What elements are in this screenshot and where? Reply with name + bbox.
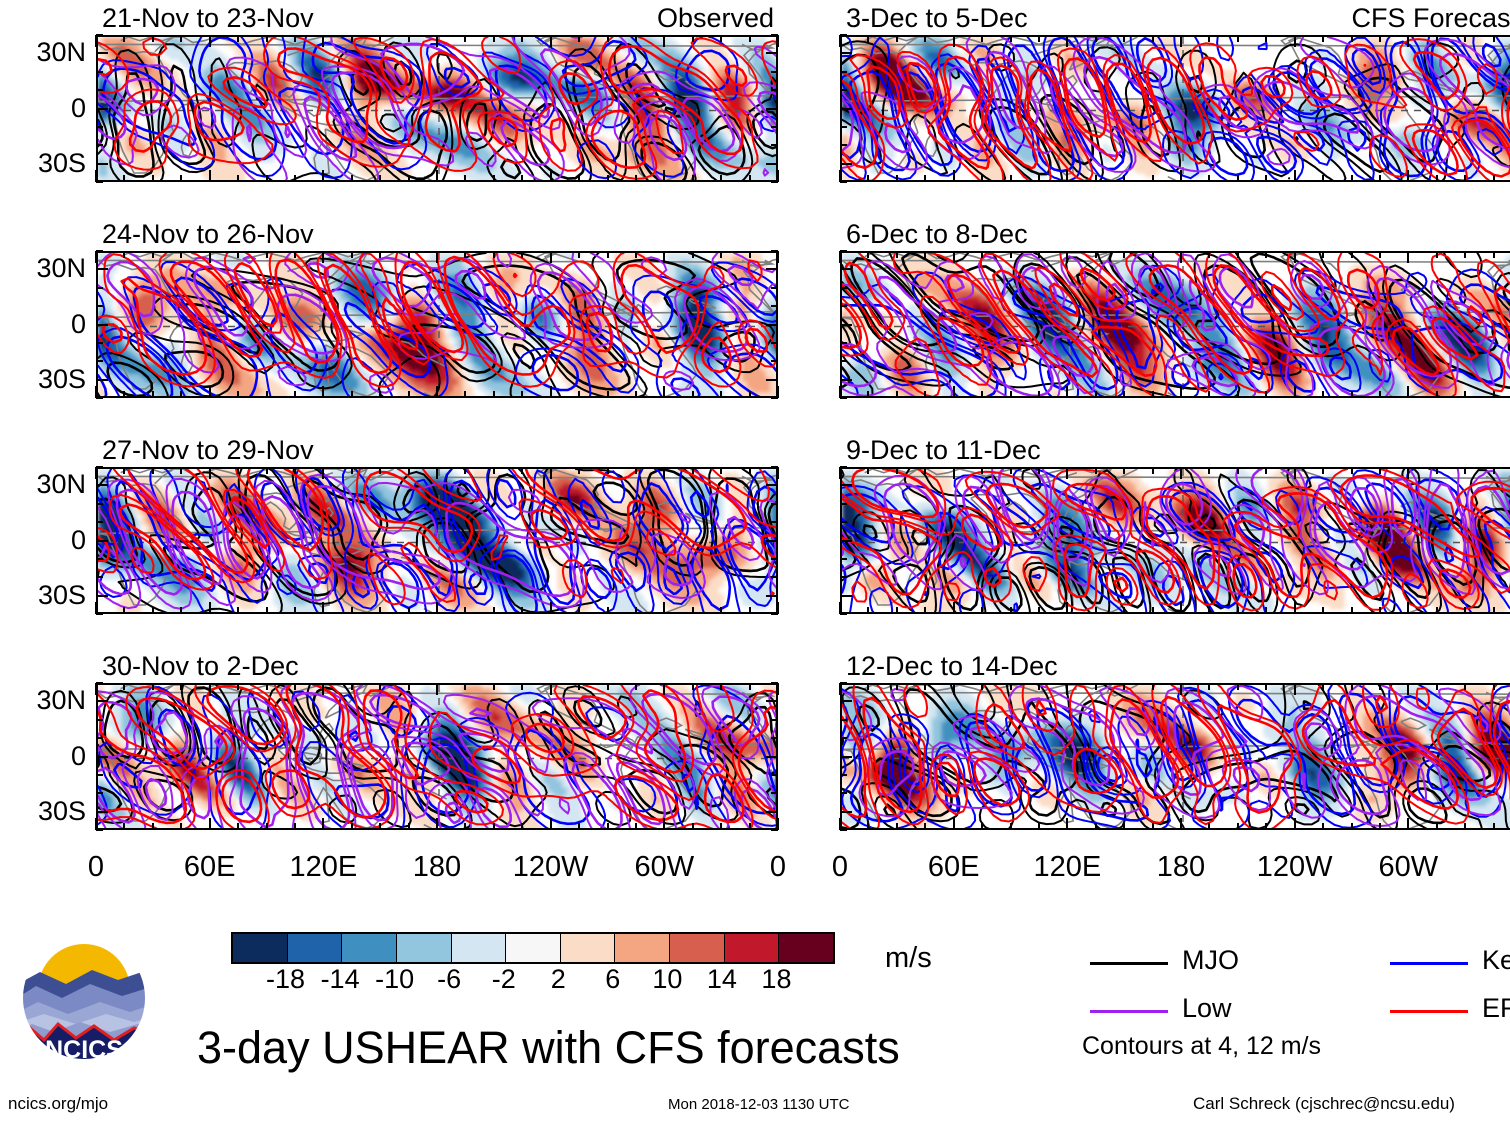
x-tick-minor bbox=[1322, 607, 1324, 614]
x-tick-minor-top bbox=[1123, 251, 1125, 258]
x-tick-minor-top bbox=[1237, 467, 1239, 474]
x-tick-minor-top bbox=[607, 467, 609, 474]
x-tick-minor-top bbox=[924, 35, 926, 42]
y-tick-minor bbox=[96, 558, 103, 560]
y-tick-minor bbox=[840, 792, 847, 794]
footer-site-link[interactable]: ncics.org/mjo bbox=[8, 1095, 108, 1112]
x-tick-minor bbox=[1351, 607, 1353, 614]
x-tick-minor bbox=[663, 602, 665, 614]
x-tick-minor-top bbox=[180, 251, 182, 258]
x-tick-minor bbox=[1322, 391, 1324, 398]
x-tick-minor-top bbox=[1010, 251, 1012, 258]
x-tick-minor-top bbox=[777, 251, 779, 263]
panel-title-5: 3-Dec to 5-Dec bbox=[846, 5, 1028, 32]
x-tick-minor-top bbox=[152, 251, 154, 258]
x-tick-minor-top bbox=[692, 35, 694, 42]
x-tick-label-3: 180 bbox=[1121, 853, 1241, 882]
y-tick-minor bbox=[840, 268, 852, 270]
y-tick-minor bbox=[96, 287, 103, 289]
y-tick-minor bbox=[840, 324, 852, 326]
x-tick-minor bbox=[493, 607, 495, 614]
x-tick-minor-top bbox=[607, 251, 609, 258]
x-tick-minor-top bbox=[1351, 35, 1353, 42]
x-tick-minor-top bbox=[839, 467, 841, 479]
x-tick-minor bbox=[550, 386, 552, 398]
y-tick-minor bbox=[96, 719, 103, 721]
x-tick-minor bbox=[1407, 602, 1409, 614]
x-tick-minor bbox=[1379, 391, 1381, 398]
colorbar-swatch-5 bbox=[505, 934, 560, 962]
x-tick-minor bbox=[408, 823, 410, 830]
x-tick-label-5: 60W bbox=[604, 853, 724, 882]
x-tick-minor bbox=[720, 391, 722, 398]
y-tick-minor bbox=[840, 397, 847, 399]
x-tick-minor bbox=[550, 170, 552, 182]
x-tick-minor-top bbox=[95, 467, 97, 479]
y-tick-minor bbox=[96, 613, 103, 615]
x-tick-minor bbox=[180, 391, 182, 398]
x-tick-minor-top bbox=[1436, 35, 1438, 42]
y-tick-minor bbox=[96, 700, 108, 702]
y-tick-minor bbox=[96, 774, 103, 776]
x-tick-minor bbox=[521, 391, 523, 398]
x-tick-minor-top bbox=[578, 683, 580, 690]
legend-line-low bbox=[1090, 1010, 1168, 1013]
y-tick-label-30s: 30S bbox=[0, 366, 86, 393]
x-tick-minor-top bbox=[1123, 683, 1125, 690]
x-tick-minor-top bbox=[839, 251, 841, 263]
x-tick-minor-top bbox=[1407, 467, 1409, 479]
x-tick-minor-top bbox=[1208, 467, 1210, 474]
y-tick-minor-right bbox=[771, 34, 778, 36]
panel-title-7: 9-Dec to 11-Dec bbox=[846, 437, 1041, 464]
x-tick-minor bbox=[635, 391, 637, 398]
x-tick-minor bbox=[1322, 823, 1324, 830]
y-tick-minor-right bbox=[771, 829, 778, 831]
x-tick-minor-top bbox=[692, 683, 694, 690]
footer-timestamp: Mon 2018-12-03 1130 UTC bbox=[668, 1096, 850, 1113]
map-panel-6[interactable] bbox=[840, 251, 1510, 398]
colorbar-swatch-10 bbox=[778, 934, 833, 962]
y-tick-minor-right bbox=[766, 595, 778, 597]
x-tick-minor bbox=[123, 175, 125, 182]
x-tick-minor bbox=[1038, 607, 1040, 614]
y-tick-minor-right bbox=[771, 613, 778, 615]
legend-label-er: ER bbox=[1482, 995, 1510, 1022]
x-tick-minor bbox=[493, 391, 495, 398]
x-tick-minor-top bbox=[1322, 251, 1324, 258]
x-tick-minor-top bbox=[981, 251, 983, 258]
x-tick-minor bbox=[981, 391, 983, 398]
x-tick-minor bbox=[1294, 602, 1296, 614]
x-tick-minor-top bbox=[1095, 251, 1097, 258]
y-tick-minor-right bbox=[771, 342, 778, 344]
x-tick-minor-top bbox=[1038, 467, 1040, 474]
panel-title-6: 6-Dec to 8-Dec bbox=[846, 221, 1028, 248]
x-tick-minor bbox=[1294, 818, 1296, 830]
x-tick-minor-top bbox=[1066, 251, 1068, 263]
x-tick-minor bbox=[896, 823, 898, 830]
y-tick-minor bbox=[96, 342, 103, 344]
x-tick-minor-top bbox=[749, 467, 751, 474]
y-tick-minor bbox=[840, 774, 847, 776]
y-tick-minor-right bbox=[771, 719, 778, 721]
y-tick-minor-right bbox=[771, 558, 778, 560]
y-tick-minor bbox=[840, 595, 852, 597]
map-panel-7[interactable] bbox=[840, 467, 1510, 614]
y-tick-label-30s: 30S bbox=[0, 582, 86, 609]
x-tick-minor-top bbox=[436, 251, 438, 263]
y-tick-minor bbox=[96, 540, 108, 542]
x-tick-minor-top bbox=[1180, 683, 1182, 695]
x-tick-label-2: 120E bbox=[1007, 853, 1127, 882]
legend-label-kelvin-x2: Kelvin x2 bbox=[1482, 947, 1510, 974]
y-tick-minor bbox=[96, 829, 103, 831]
x-tick-minor bbox=[294, 175, 296, 182]
y-tick-minor bbox=[840, 811, 852, 813]
x-tick-minor-top bbox=[95, 683, 97, 695]
x-tick-minor bbox=[294, 823, 296, 830]
x-tick-minor-top bbox=[867, 683, 869, 690]
x-tick-minor bbox=[1180, 818, 1182, 830]
y-tick-minor-right bbox=[766, 700, 778, 702]
x-tick-minor-top bbox=[379, 35, 381, 42]
x-tick-minor-top bbox=[266, 35, 268, 42]
x-tick-minor bbox=[436, 818, 438, 830]
x-tick-minor bbox=[209, 602, 211, 614]
y-tick-minor bbox=[96, 682, 103, 684]
x-tick-minor bbox=[1351, 175, 1353, 182]
y-tick-minor bbox=[840, 719, 847, 721]
y-tick-minor bbox=[96, 521, 103, 523]
x-tick-minor bbox=[464, 391, 466, 398]
x-tick-minor-top bbox=[924, 467, 926, 474]
x-tick-minor-top bbox=[1010, 683, 1012, 690]
x-tick-minor-top bbox=[1436, 683, 1438, 690]
colorbar-tick-9: 18 bbox=[736, 966, 816, 993]
x-tick-minor bbox=[123, 391, 125, 398]
colorbar-swatch-9 bbox=[724, 934, 779, 962]
x-tick-minor-top bbox=[981, 683, 983, 690]
x-tick-minor bbox=[692, 391, 694, 398]
x-tick-minor-top bbox=[493, 683, 495, 690]
y-tick-minor bbox=[96, 126, 103, 128]
x-tick-minor bbox=[180, 175, 182, 182]
x-tick-minor bbox=[1493, 175, 1495, 182]
x-tick-minor bbox=[749, 175, 751, 182]
x-tick-minor-top bbox=[1237, 35, 1239, 42]
x-tick-label-2: 120E bbox=[263, 853, 383, 882]
x-tick-minor bbox=[896, 175, 898, 182]
colorbar-swatch-2 bbox=[341, 934, 396, 962]
x-tick-minor bbox=[351, 391, 353, 398]
x-tick-minor bbox=[663, 170, 665, 182]
x-tick-minor-top bbox=[351, 683, 353, 690]
x-tick-minor-top bbox=[294, 35, 296, 42]
colorbar-swatch-8 bbox=[669, 934, 724, 962]
x-tick-minor bbox=[237, 175, 239, 182]
x-tick-minor-top bbox=[953, 467, 955, 479]
x-tick-minor bbox=[692, 823, 694, 830]
x-tick-minor bbox=[953, 170, 955, 182]
y-tick-minor bbox=[840, 613, 847, 615]
y-tick-minor bbox=[840, 379, 852, 381]
y-tick-minor bbox=[96, 576, 103, 578]
x-tick-minor bbox=[379, 823, 381, 830]
x-tick-minor bbox=[152, 607, 154, 614]
x-tick-minor-top bbox=[720, 467, 722, 474]
x-tick-minor-top bbox=[1208, 35, 1210, 42]
x-tick-minor-top bbox=[1066, 35, 1068, 47]
legend-line-mjo bbox=[1090, 962, 1168, 965]
y-tick-minor bbox=[840, 163, 852, 165]
y-tick-minor bbox=[96, 144, 103, 146]
x-tick-minor-top bbox=[436, 683, 438, 695]
x-tick-minor-top bbox=[1237, 683, 1239, 690]
x-tick-minor-top bbox=[1265, 683, 1267, 690]
x-tick-minor bbox=[924, 391, 926, 398]
x-tick-minor-top bbox=[1407, 683, 1409, 695]
x-tick-minor-top bbox=[1208, 251, 1210, 258]
x-tick-minor-top bbox=[294, 467, 296, 474]
x-tick-minor bbox=[379, 175, 381, 182]
colorbar-swatch-7 bbox=[614, 934, 669, 962]
map-panel-8[interactable] bbox=[840, 683, 1510, 830]
x-tick-minor-top bbox=[180, 683, 182, 690]
legend-line-er bbox=[1390, 1010, 1468, 1013]
x-tick-minor-top bbox=[663, 467, 665, 479]
y-tick-minor bbox=[840, 89, 847, 91]
x-tick-minor bbox=[351, 823, 353, 830]
x-tick-minor bbox=[1237, 391, 1239, 398]
x-tick-minor bbox=[607, 607, 609, 614]
x-tick-minor bbox=[896, 607, 898, 614]
x-tick-minor bbox=[1322, 175, 1324, 182]
x-tick-minor-top bbox=[635, 467, 637, 474]
x-tick-minor-top bbox=[981, 467, 983, 474]
y-tick-minor-right bbox=[766, 484, 778, 486]
x-tick-minor bbox=[635, 607, 637, 614]
x-tick-minor-top bbox=[839, 683, 841, 695]
x-tick-minor-top bbox=[663, 683, 665, 695]
y-tick-minor bbox=[840, 829, 847, 831]
x-tick-minor bbox=[436, 170, 438, 182]
x-tick-minor bbox=[1436, 391, 1438, 398]
x-tick-minor bbox=[578, 823, 580, 830]
y-tick-minor bbox=[96, 756, 108, 758]
x-tick-minor-top bbox=[550, 251, 552, 263]
x-tick-minor-top bbox=[1351, 251, 1353, 258]
x-tick-minor-top bbox=[1095, 35, 1097, 42]
x-tick-minor-top bbox=[607, 683, 609, 690]
x-tick-minor-top bbox=[1436, 467, 1438, 474]
x-tick-minor bbox=[981, 175, 983, 182]
x-tick-minor bbox=[1265, 823, 1267, 830]
x-tick-minor-top bbox=[1237, 251, 1239, 258]
x-tick-minor bbox=[1379, 823, 1381, 830]
x-tick-minor-top bbox=[408, 35, 410, 42]
x-tick-minor-top bbox=[1294, 467, 1296, 479]
x-tick-minor-top bbox=[867, 467, 869, 474]
y-tick-minor bbox=[96, 71, 103, 73]
y-tick-minor bbox=[840, 126, 847, 128]
x-tick-minor bbox=[550, 818, 552, 830]
x-tick-minor-top bbox=[464, 683, 466, 690]
x-tick-minor-top bbox=[777, 35, 779, 47]
colorbar-swatch-4 bbox=[451, 934, 506, 962]
x-tick-label-4: 120W bbox=[1235, 853, 1355, 882]
x-tick-minor bbox=[1066, 386, 1068, 398]
column-header-right: CFS Forecast bbox=[1351, 5, 1510, 32]
x-tick-minor-top bbox=[408, 467, 410, 474]
x-tick-minor-top bbox=[777, 467, 779, 479]
x-tick-minor-top bbox=[550, 683, 552, 695]
y-tick-minor-right bbox=[766, 163, 778, 165]
legend-label-mjo: MJO bbox=[1182, 947, 1239, 974]
x-tick-minor-top bbox=[322, 467, 324, 479]
x-tick-minor-top bbox=[1180, 467, 1182, 479]
x-tick-minor bbox=[351, 607, 353, 614]
y-tick-minor bbox=[840, 360, 847, 362]
x-tick-minor-top bbox=[550, 467, 552, 479]
x-tick-minor bbox=[1237, 607, 1239, 614]
x-tick-minor bbox=[1123, 391, 1125, 398]
x-tick-minor bbox=[1294, 386, 1296, 398]
x-tick-minor-top bbox=[1379, 683, 1381, 690]
y-tick-minor bbox=[840, 144, 847, 146]
x-tick-minor-top bbox=[379, 683, 381, 690]
x-tick-minor-top bbox=[152, 467, 154, 474]
x-tick-minor-top bbox=[1464, 35, 1466, 42]
x-tick-minor-top bbox=[1379, 251, 1381, 258]
colorbar bbox=[231, 932, 835, 964]
y-tick-minor bbox=[840, 34, 847, 36]
x-tick-minor-top bbox=[749, 251, 751, 258]
y-tick-minor bbox=[96, 792, 103, 794]
x-tick-minor-top bbox=[152, 683, 154, 690]
x-tick-minor bbox=[981, 823, 983, 830]
x-tick-minor-top bbox=[867, 35, 869, 42]
x-tick-minor-top bbox=[123, 251, 125, 258]
y-tick-label-30n: 30N bbox=[0, 471, 86, 498]
x-tick-minor bbox=[493, 823, 495, 830]
y-tick-minor bbox=[96, 379, 108, 381]
y-tick-minor-right bbox=[771, 503, 778, 505]
x-tick-minor bbox=[1038, 391, 1040, 398]
x-tick-minor-top bbox=[1464, 467, 1466, 474]
contour-note: Contours at 4, 12 m/s bbox=[1082, 1034, 1321, 1059]
x-tick-minor-top bbox=[663, 251, 665, 263]
map-panel-2[interactable] bbox=[96, 251, 778, 398]
y-tick-minor bbox=[840, 540, 852, 542]
y-tick-minor bbox=[96, 466, 103, 468]
x-tick-minor bbox=[1436, 607, 1438, 614]
x-tick-minor-top bbox=[493, 35, 495, 42]
y-tick-minor bbox=[96, 250, 103, 252]
x-tick-minor bbox=[266, 391, 268, 398]
panel-title-4: 30-Nov to 2-Dec bbox=[102, 653, 299, 680]
panel-title-2: 24-Nov to 26-Nov bbox=[102, 221, 314, 248]
x-tick-minor bbox=[1095, 823, 1097, 830]
map-panel-3[interactable] bbox=[96, 467, 778, 614]
x-tick-minor bbox=[266, 175, 268, 182]
x-tick-minor bbox=[720, 823, 722, 830]
x-tick-minor-top bbox=[839, 35, 841, 47]
y-tick-minor bbox=[840, 71, 847, 73]
x-tick-minor bbox=[180, 823, 182, 830]
x-tick-minor bbox=[1493, 391, 1495, 398]
x-tick-minor-top bbox=[493, 251, 495, 258]
x-tick-minor-top bbox=[1152, 467, 1154, 474]
x-tick-minor-top bbox=[237, 467, 239, 474]
x-tick-minor-top bbox=[1379, 35, 1381, 42]
x-tick-minor bbox=[237, 823, 239, 830]
map-panel-1[interactable] bbox=[96, 35, 778, 182]
y-tick-minor bbox=[96, 811, 108, 813]
x-tick-minor-top bbox=[720, 251, 722, 258]
x-tick-minor-top bbox=[379, 467, 381, 474]
x-tick-minor bbox=[1493, 823, 1495, 830]
y-tick-minor-right bbox=[771, 397, 778, 399]
y-tick-minor bbox=[96, 268, 108, 270]
figure-title: 3-day USHEAR with CFS forecasts bbox=[197, 1025, 900, 1070]
x-tick-minor bbox=[1066, 818, 1068, 830]
x-tick-minor-top bbox=[1123, 35, 1125, 42]
map-panel-4[interactable] bbox=[96, 683, 778, 830]
x-tick-minor-top bbox=[635, 251, 637, 258]
x-tick-minor-top bbox=[1066, 683, 1068, 695]
y-tick-minor-right bbox=[766, 268, 778, 270]
x-tick-minor bbox=[408, 175, 410, 182]
x-tick-minor bbox=[1123, 607, 1125, 614]
x-tick-minor bbox=[1493, 607, 1495, 614]
x-tick-minor-top bbox=[351, 251, 353, 258]
x-tick-label-5: 60W bbox=[1348, 853, 1468, 882]
map-panel-5[interactable] bbox=[840, 35, 1510, 182]
x-tick-minor bbox=[1379, 175, 1381, 182]
y-tick-minor bbox=[96, 108, 108, 110]
x-tick-minor-top bbox=[720, 35, 722, 42]
x-tick-minor bbox=[635, 823, 637, 830]
x-tick-minor bbox=[1123, 823, 1125, 830]
x-tick-minor bbox=[1010, 823, 1012, 830]
x-tick-minor-top bbox=[1294, 35, 1296, 47]
x-tick-minor-top bbox=[436, 467, 438, 479]
x-tick-minor-top bbox=[180, 35, 182, 42]
x-tick-minor bbox=[322, 386, 324, 398]
x-tick-minor bbox=[924, 175, 926, 182]
y-tick-minor bbox=[840, 342, 847, 344]
x-tick-minor-top bbox=[351, 35, 353, 42]
x-tick-minor-top bbox=[1265, 35, 1267, 42]
x-tick-label-1: 60E bbox=[894, 853, 1014, 882]
y-tick-minor bbox=[96, 397, 103, 399]
x-tick-minor-top bbox=[464, 35, 466, 42]
x-tick-minor-top bbox=[322, 251, 324, 263]
y-tick-minor bbox=[840, 700, 852, 702]
x-tick-minor bbox=[521, 175, 523, 182]
y-tick-minor-right bbox=[766, 811, 778, 813]
x-tick-minor-top bbox=[237, 683, 239, 690]
y-tick-label-30s: 30S bbox=[0, 150, 86, 177]
y-tick-minor bbox=[840, 466, 847, 468]
x-tick-minor-top bbox=[464, 467, 466, 474]
x-tick-minor bbox=[1407, 386, 1409, 398]
x-tick-minor bbox=[953, 818, 955, 830]
x-tick-minor bbox=[1010, 391, 1012, 398]
y-tick-minor-right bbox=[771, 89, 778, 91]
x-tick-minor bbox=[1464, 823, 1466, 830]
